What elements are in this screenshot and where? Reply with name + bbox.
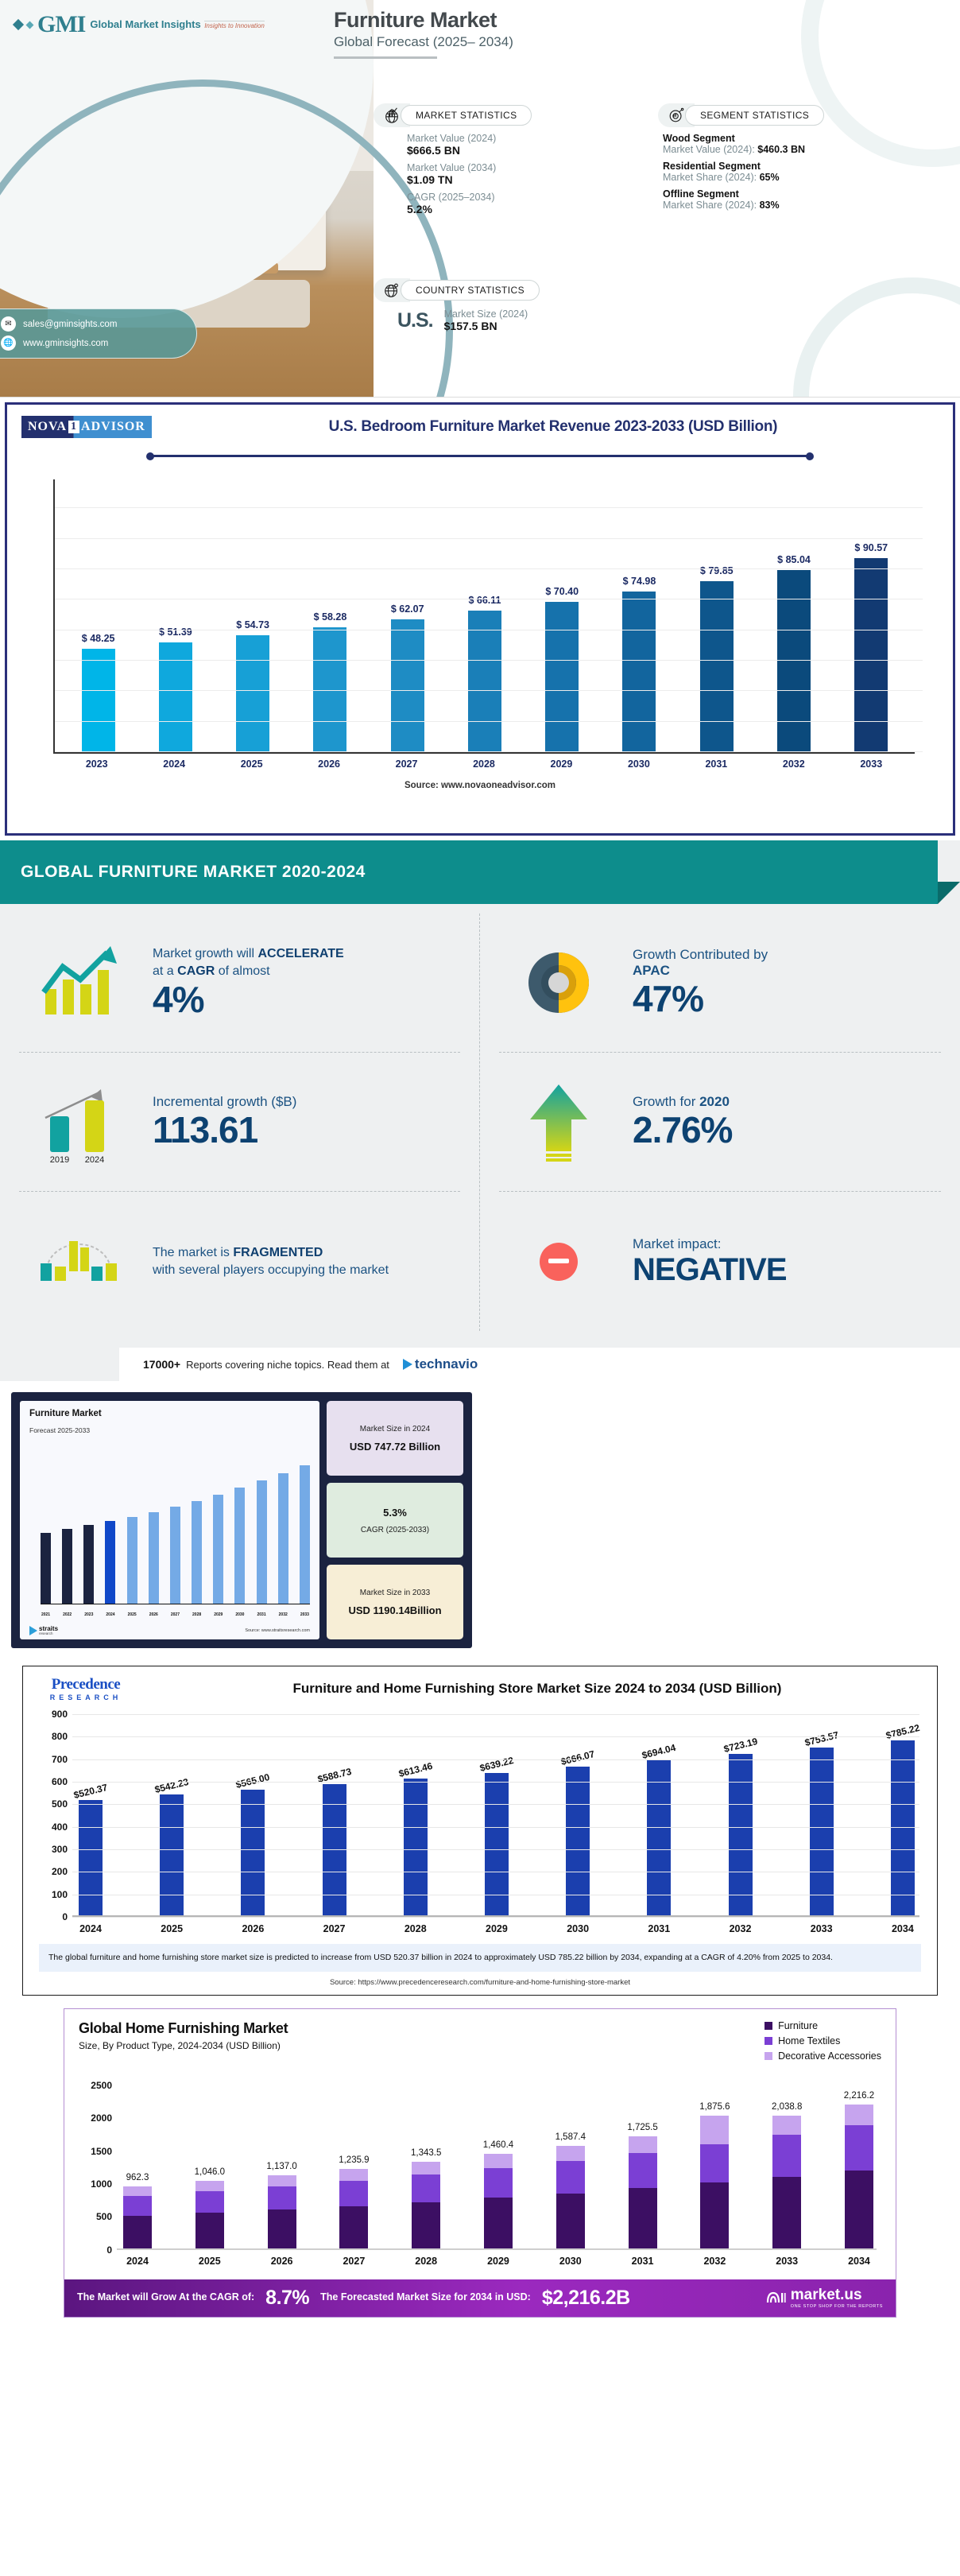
bar-value-label: $639.22 [478,1755,514,1774]
bar [234,1488,245,1604]
bar: $785.22 [891,1740,915,1917]
bar-fill [82,649,115,752]
bar-value-label: $723.19 [722,1736,758,1755]
bar-fill [391,619,424,752]
x-tick-label: 2030 [622,758,656,770]
bar-segment-decorative-accessories [123,2186,152,2196]
gmi-title-block: Furniture Market Global Forecast (2025– … [334,8,675,59]
technavio-triangle-icon [403,1359,412,1370]
offline-segment-name: Offline Segment [663,188,952,200]
x-tick-label: 2025 [160,1923,184,1934]
gfm-cagr-word: CAGR [177,964,215,978]
nova-x-axis: 2023202420252026202720282029203020312032… [53,758,915,770]
precedence-source: Source: https://www.precedenceresearch.c… [34,1978,926,1987]
bar-value-label: $ 74.98 [623,576,656,587]
bar-segment-decorative-accessories [556,2146,585,2161]
bar-fill [159,642,192,752]
x-tick-label: 2027 [170,1612,180,1617]
stacked-bar: 1,343.5 [412,2162,440,2250]
x-tick-label: 2026 [149,1612,159,1617]
nova-chart-title: U.S. Bedroom Furniture Market Revenue 20… [168,418,939,436]
straits-kpi-cagr-value: 5.3% [333,1507,457,1519]
market-value-2034-label: Market Value (2034) [407,162,636,173]
bar [192,1501,202,1604]
bar-total-label: 1,725.5 [627,2123,657,2132]
marketus-section: Global Home Furnishing Market Size, By P… [64,2008,896,2318]
marketus-banner-cagr: 8.7% [265,2287,309,2310]
gridline [72,1714,919,1715]
gfm-growth-year: 2020 [699,1094,730,1109]
residential-segment-label: Market Share (2024): [663,172,760,183]
gfm-impact-value: NEGATIVE [633,1252,941,1287]
bar-total-label: 1,343.5 [411,2148,441,2158]
gridline [72,1736,919,1737]
bar: $694.04 [647,1760,671,1917]
bar [213,1495,223,1604]
market-value-2024-label: Market Value (2024) [407,133,636,144]
gridline [72,1804,919,1805]
precedence-x-axis: 2024202520262027202820292030203120322033… [79,1923,915,1934]
nova-logo-left: NOVA [28,420,67,434]
bar: $639.22 [485,1773,509,1917]
y-tick-label: 200 [34,1866,68,1877]
market-value-2024-value: $666.5 BN [407,144,636,157]
offline-segment-value: 83% [760,200,780,211]
bar [149,1512,159,1604]
bar: $565.00 [241,1790,265,1917]
x-tick-label: 2031 [629,2256,657,2267]
bar-segment-home-textiles [195,2191,224,2213]
bar-fill [404,1779,428,1917]
bar-value-label: $ 90.57 [854,542,888,553]
global-furniture-market-section: GLOBAL FURNITURE MARKET 2020-2024 [0,840,960,1381]
x-tick-label: 2032 [700,2256,729,2267]
segment-statistics-pill: SEGMENT STATISTICS [685,105,824,126]
page-title: Furniture Market [334,8,675,33]
legend-label: Decorative Accessories [778,2050,881,2062]
fragmented-players-icon [19,1230,138,1294]
marketus-legend: FurnitureHome TextilesDecorative Accesso… [765,2020,881,2062]
x-tick-label: 2031 [257,1612,267,1617]
y-tick-label: 0 [79,2244,112,2256]
bar: $542.23 [160,1794,184,1917]
bar: $ 66.11 [468,611,501,752]
country-market-size-value: $157.5 BN [444,320,528,332]
gfm-cagr-lead-a: Market growth will [153,947,257,960]
bar: $723.19 [729,1754,753,1917]
bar [41,1533,51,1604]
bar-segment-home-textiles [556,2161,585,2194]
bar: $ 70.40 [545,602,579,752]
y-tick-label: 500 [34,1798,68,1810]
x-tick-label: 2028 [404,1923,428,1934]
bar-value-label: $ 79.85 [700,565,734,576]
gfm-apac-label: Growth Contributed by [633,947,941,963]
x-tick-label: 2034 [845,2256,873,2267]
straits-chart-subtitle: Forecast 2025-2033 [29,1426,310,1434]
ribbon-fold [938,882,960,904]
bar: $ 54.73 [236,635,269,752]
bar-total-label: 1,587.4 [555,2132,586,2142]
gridline [55,630,923,630]
marketus-wave-icon [765,2290,786,2306]
y-tick-label: 2500 [79,2080,112,2091]
bar-segment-furniture [629,2188,657,2250]
marketus-brand-tag: ONE STOP SHOP FOR THE REPORTS [791,2304,883,2309]
bar-value-label: $613.46 [397,1760,433,1779]
y-tick-label: 0 [34,1911,68,1922]
country-name: U.S. [397,309,433,332]
gmi-logo-mark: GMI [37,11,85,38]
bar-value-label: $753.57 [803,1728,839,1748]
bar-fill [622,592,656,752]
up-arrow-icon [499,1078,618,1166]
gfm-apac-value: 47% [633,979,941,1019]
stacked-bar: 2,038.8 [772,2116,801,2250]
gfm-cell-apac: Growth Contributed by APAC 47% [499,914,941,1053]
y-tick-label: 900 [34,1709,68,1720]
x-tick-label: 2024 [123,2256,152,2267]
gfm-ribbon: GLOBAL FURNITURE MARKET 2020-2024 [0,840,938,904]
straits-kpi-cagr-label: CAGR (2025-2033) [333,1526,457,1534]
y-tick-label: 2000 [79,2112,112,2124]
bar-segment-home-textiles [845,2125,873,2171]
y-tick-label: 500 [79,2211,112,2222]
marketus-x-axis: 2024202520262027202820292030203120322033… [123,2256,873,2267]
gfm-footer-bar: 17000+ Reports covering niche topics. Re… [119,1348,960,1381]
wood-segment-label: Market Value (2024): [663,144,757,155]
diamond-icon [13,19,24,30]
y-tick-label: 400 [34,1821,68,1833]
bar-fill [700,581,734,752]
gfm-cell-fragmented: The market is FRAGMENTED with several pl… [19,1192,460,1331]
gridline [72,1782,919,1783]
x-tick-label: 2026 [268,2256,296,2267]
technavio-logo: technavio [403,1356,478,1372]
bar-total-label: 1,137.0 [266,2162,296,2171]
gfm-cagr-accelerate: ACCELERATE [257,947,343,960]
gfm-incremental-label: Incremental growth ($B) [153,1094,460,1110]
gmi-logo-tagline: Insights to Innovation [204,21,265,29]
precedence-section: Precedence RESEARCH Furniture and Home F… [22,1666,938,1996]
stacked-bar: 1,587.4 [556,2146,585,2250]
gfm-left-column: Market growth will ACCELERATE at a CAGR … [0,914,480,1331]
bar-segment-furniture [268,2209,296,2250]
x-tick-label: 2027 [323,1923,346,1934]
globe-icon: 🌐 [1,336,16,351]
y-tick-label: 600 [34,1776,68,1787]
nova-source: Source: www.novaoneadvisor.com [21,781,939,790]
gfm-cagr-value: 4% [153,980,460,1020]
gfm-impact-label: Market impact: [633,1236,941,1252]
bar [105,1521,115,1604]
gridline [72,1872,919,1872]
nova-logo-box: 1 [68,421,79,433]
legend-label: Furniture [778,2020,818,2031]
bar-value-label: $ 62.07 [391,603,424,615]
bar-segment-decorative-accessories [412,2162,440,2174]
bar-segment-furniture [556,2194,585,2250]
x-tick-label: 2030 [566,1923,590,1934]
market-statistics-block: MARKET STATISTICS Market Value (2024) $6… [374,103,636,215]
bar-segment-furniture [700,2182,729,2249]
svg-text:2019: 2019 [50,1155,69,1165]
bar-fill [891,1740,915,1917]
bar-segment-decorative-accessories [772,2116,801,2135]
stacked-bar: 1,235.9 [339,2169,368,2250]
precedence-plot-area: $520.37$542.23$565.00$588.73$613.46$639.… [34,1714,926,1917]
straits-card: Furniture Market Forecast 2025-2033 2021… [11,1392,472,1648]
stacked-bar: 2,216.2 [845,2105,873,2250]
bar-segment-home-textiles [412,2174,440,2202]
country-statistics-pill: COUNTRY STATISTICS [401,280,540,301]
country-statistics-block: COUNTRY STATISTICS U.S. Market Size (202… [374,278,636,332]
technavio-name: technavio [415,1356,478,1372]
straits-kpi-2033-label: Market Size in 2033 [333,1589,457,1597]
two-bar-growth-icon: 2019 2024 [19,1078,138,1166]
gfm-cagr-lead-e: of almost [215,964,269,978]
gridline [55,690,923,691]
nova-plot-area: $ 48.25$ 51.39$ 54.73$ 58.28$ 62.07$ 66.… [53,479,915,754]
bar-fill [647,1760,671,1917]
straits-kpi-2024: Market Size in 2024 USD 747.72 Billion [327,1401,463,1476]
x-tick-label: 2030 [234,1612,245,1617]
precedence-logo-line1: Precedence [34,1676,137,1693]
bar-total-label: 1,046.0 [195,2167,225,2177]
bar-value-label: $ 85.04 [777,554,811,565]
bar-fill [729,1754,753,1917]
segment-statistics-block: SEGMENT STATISTICS Wood Segment Market V… [658,103,952,211]
decorative-arc-4 [793,277,960,398]
y-tick-label: 100 [34,1889,68,1900]
bar-total-label: 962.3 [126,2173,149,2182]
bar-segment-home-textiles [268,2186,296,2209]
page-subtitle: Global Forecast (2025– 2034) [334,34,675,50]
straits-kpi-2024-value: USD 747.72 Billion [333,1441,457,1453]
bar-value-label: $565.00 [235,1771,271,1790]
precedence-logo-line2: RESEARCH [34,1693,137,1701]
stacked-bar: 1,725.5 [629,2136,657,2250]
marketus-brand-name: market.us [791,2287,862,2303]
nova-chart-section: NOVA 1 ADVISOR U.S. Bedroom Furniture Ma… [5,402,955,836]
bar-fill [241,1790,265,1917]
straits-chart: Furniture Market Forecast 2025-2033 2021… [20,1401,319,1639]
bar-value-label: $ 58.28 [314,611,347,623]
x-tick-label: 2022 [62,1612,72,1617]
stacked-bar: 1,046.0 [195,2181,224,2249]
donut-chart-icon [499,943,618,1022]
bar-fill [236,635,269,752]
bar-segment-furniture [412,2202,440,2250]
x-tick-label: 2033 [810,1923,834,1934]
y-tick-label: 1000 [79,2178,112,2190]
bar: $ 62.07 [391,619,424,752]
legend-swatch [765,2022,772,2030]
gridline [55,599,923,599]
gmi-logo-name: Global Market Insights [90,18,200,30]
bar-fill [854,558,888,752]
bar-total-label: 1,460.4 [483,2140,513,2150]
bar [62,1529,72,1604]
y-tick-label: 1500 [79,2146,112,2157]
bar-value-label: $666.07 [559,1748,595,1767]
marketus-banner-left-text: The Market will Grow At the CAGR of: [77,2291,254,2304]
x-tick-label: 2024 [79,1923,103,1934]
bar-segment-decorative-accessories [484,2154,513,2168]
gfm-cell-cagr: Market growth will ACCELERATE at a CAGR … [19,914,460,1053]
precedence-logo: Precedence RESEARCH [34,1676,137,1701]
marketus-banner-size: $2,216.2B [542,2287,630,2310]
bar [300,1465,310,1604]
x-tick-label: 2027 [390,758,424,770]
straits-brand-sub: research [39,1632,58,1636]
country-market-size-label: Market Size (2024) [444,308,528,320]
x-tick-label: 2026 [312,758,346,770]
y-tick-label: 300 [34,1844,68,1855]
bar-fill [79,1800,103,1917]
bar-value-label: $542.23 [153,1776,189,1795]
x-tick-label: 2023 [80,758,114,770]
x-tick-label: 2027 [339,2256,368,2267]
wood-segment-value: $460.3 BN [757,144,805,155]
bar [83,1525,94,1604]
legend-item: Decorative Accessories [765,2050,881,2062]
bar-segment-home-textiles [700,2144,729,2182]
straits-triangle-icon [29,1626,37,1635]
x-tick-label: 2031 [647,1923,671,1934]
x-tick-label: 2033 [300,1612,310,1617]
x-tick-label: 2028 [467,758,501,770]
straits-kpi-2033: Market Size in 2033 USD 1190.14Billion [327,1565,463,1639]
bar-segment-decorative-accessories [629,2136,657,2153]
x-tick-label: 2032 [777,758,811,770]
bar-segment-furniture [195,2213,224,2250]
gfm-right-column: Growth Contributed by APAC 47% [480,914,960,1331]
diamond-small-icon [26,21,34,29]
marketus-subtitle: Size, By Product Type, 2024-2034 (USD Bi… [79,2040,288,2051]
gridline [72,1849,919,1850]
bar [257,1480,267,1604]
x-tick-label: 2025 [195,2256,224,2267]
bar-segment-home-textiles [772,2135,801,2177]
bar-segment-decorative-accessories [339,2169,368,2181]
bar [170,1507,180,1604]
x-tick-label: 2029 [213,1612,223,1617]
gfm-cell-growth2020: Growth for 2020 2.76% [499,1053,941,1192]
bar-fill [810,1748,834,1918]
x-tick-label: 2025 [127,1612,137,1617]
novaoneadvisor-logo: NOVA 1 ADVISOR [21,416,152,438]
x-tick-label: 2026 [241,1923,265,1934]
bar-fill [160,1794,184,1917]
straits-section: Furniture Market Forecast 2025-2033 2021… [0,1381,960,1656]
bar-total-label: 1,235.9 [339,2155,369,2165]
gfm-cell-incremental: 2019 2024 Incremental growth ($B) 113.61 [19,1053,460,1192]
x-tick-label: 2029 [544,758,578,770]
residential-segment-value: 65% [760,172,780,183]
gfm-frag-lead-c: with several players occupying the marke… [153,1262,460,1279]
negative-minus-icon [499,1234,618,1290]
gfm-cagr-lead-c: at a [153,964,177,978]
bar: $ 90.57 [854,558,888,752]
gridline [55,507,923,508]
y-tick-label: 800 [34,1731,68,1742]
bar: $ 74.98 [622,592,656,752]
gfm-footer-text: Reports covering niche topics. Read them… [186,1359,389,1371]
x-tick-label: 2030 [556,2256,585,2267]
growth-chart-arrow-icon [19,943,138,1022]
x-tick-label: 2033 [772,2256,801,2267]
x-tick-label: 2024 [157,758,191,770]
stacked-bar: 1,460.4 [484,2154,513,2250]
bar-segment-decorative-accessories [268,2175,296,2186]
bar-segment-home-textiles [629,2153,657,2188]
bar-value-label: $ 51.39 [159,627,192,638]
gfm-incremental-value: 113.61 [153,1110,460,1150]
bar-segment-furniture [845,2171,873,2250]
gridline [55,568,923,569]
bar-segment-home-textiles [484,2168,513,2198]
x-tick-label: 2028 [412,2256,440,2267]
gridline [55,721,923,722]
bar-fill [777,570,811,752]
bar-total-label: 2,038.8 [772,2102,802,2112]
straits-source: Source: www.straitsresearch.com [245,1628,310,1633]
bar: $520.37 [79,1800,103,1917]
gridline [55,660,923,661]
gridline [72,1895,919,1895]
bar-segment-decorative-accessories [845,2105,873,2125]
bar-fill [468,611,501,752]
gmi-logo: GMI Global Market Insights Insights to I… [14,11,265,38]
straits-plot-area [41,1458,310,1604]
bar-value-label: $ 70.40 [545,586,579,597]
cagr-label: CAGR (2025–2034) [407,192,636,203]
precedence-chart-title: Furniture and Home Furnishing Store Mark… [149,1680,926,1697]
legend-swatch [765,2052,772,2060]
residential-segment-name: Residential Segment [663,161,952,172]
nova-connector-line [146,452,814,460]
gfm-ribbon-title: GLOBAL FURNITURE MARKET 2020-2024 [21,863,366,882]
bar: $ 48.25 [82,649,115,752]
bar-value-label: $785.22 [885,1721,920,1740]
straits-x-axis: 2021202220232024202520262027202820292030… [41,1612,310,1617]
svg-text:2024: 2024 [85,1155,104,1165]
x-tick-label: 2025 [235,758,269,770]
bar-total-label: 1,875.6 [699,2102,730,2112]
gfm-cell-impact: Market impact: NEGATIVE [499,1192,941,1331]
offline-segment-label: Market Share (2024): [663,200,760,211]
stacked-bar: 1,137.0 [268,2175,296,2250]
bar-segment-home-textiles [339,2181,368,2206]
contact-website[interactable]: www.gminsights.com [23,339,108,348]
bar: $ 51.39 [159,642,192,752]
marketus-title: Global Home Furnishing Market [79,2020,288,2037]
x-tick-label: 2032 [729,1923,753,1934]
bar: $ 85.04 [777,570,811,752]
gridline [55,538,923,539]
bar-segment-home-textiles [123,2196,152,2216]
gfm-frag-lead-a: The market is [153,1246,233,1259]
gridline [72,1827,919,1828]
bar: $613.46 [404,1779,428,1917]
bar-segment-furniture [484,2198,513,2249]
bar-value-label: $ 48.25 [82,633,115,644]
gfm-growth-value: 2.76% [633,1110,941,1150]
gfm-growth-label: Growth for [633,1094,699,1109]
x-tick-label: 2029 [485,1923,509,1934]
contact-email[interactable]: sales@gminsights.com [23,320,117,329]
